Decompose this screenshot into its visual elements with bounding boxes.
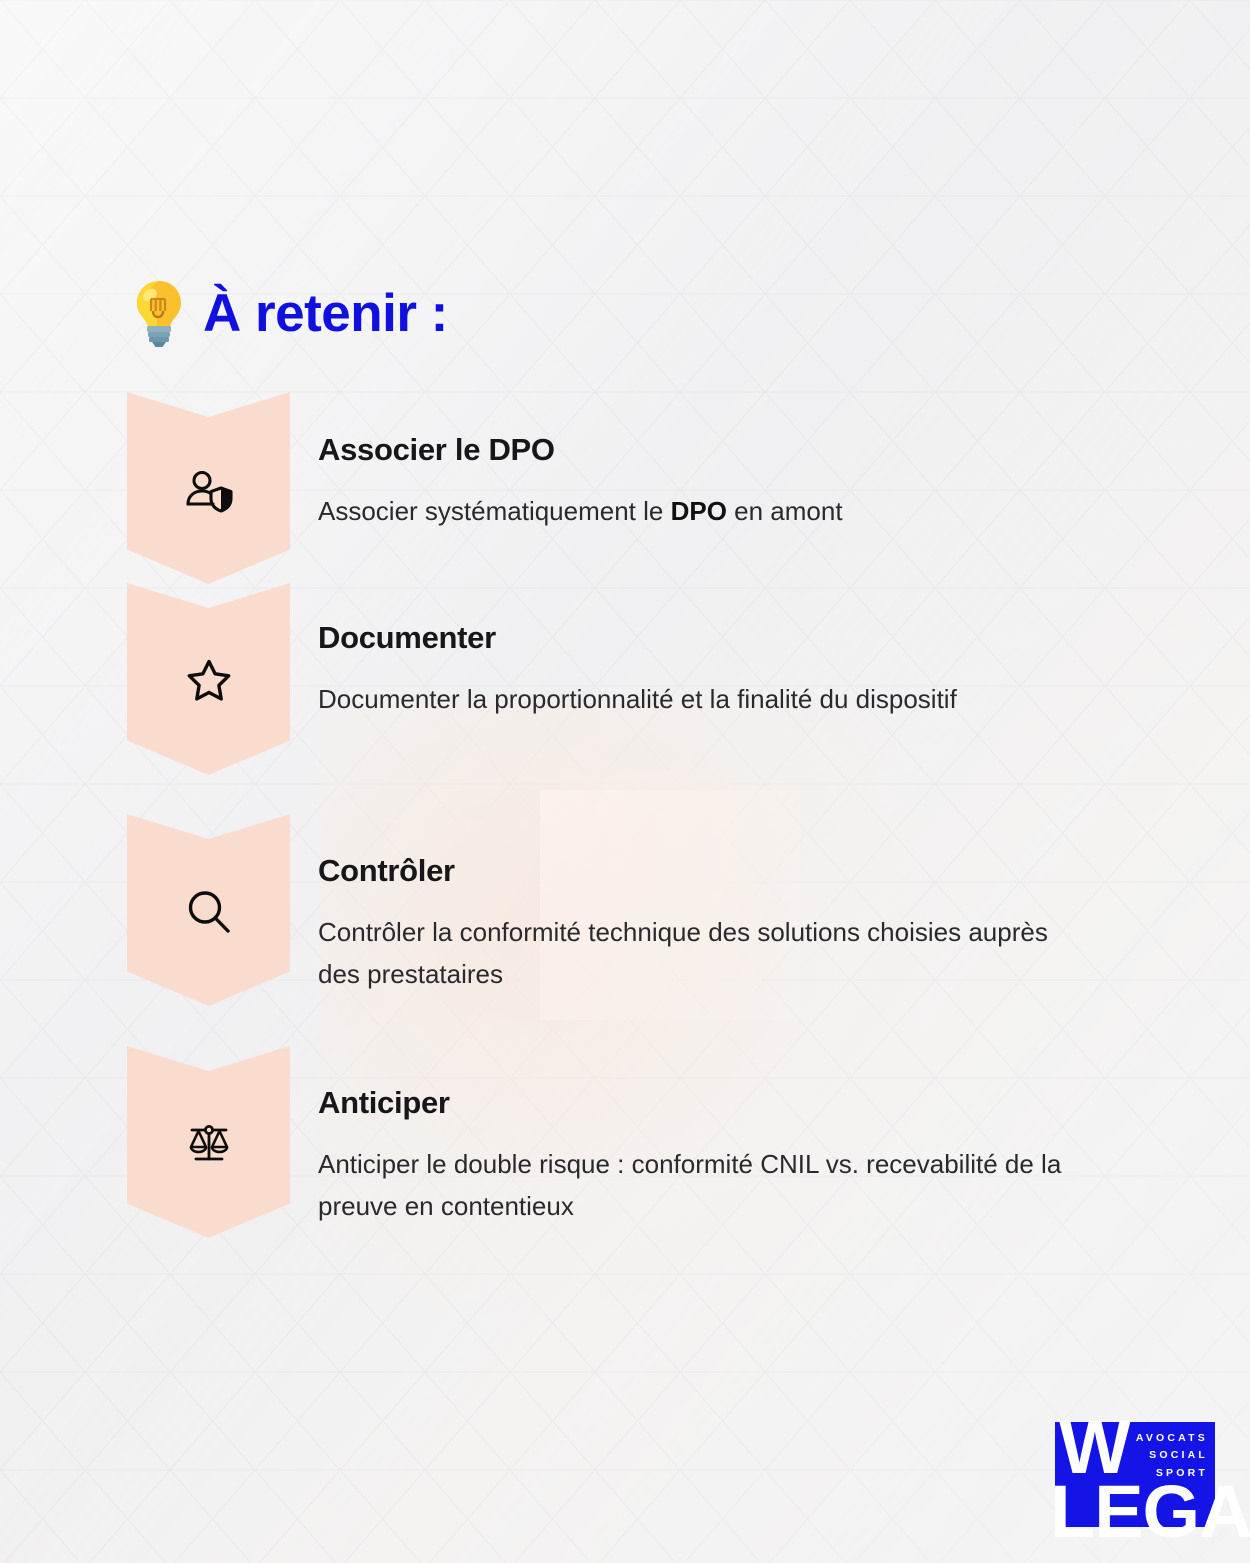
page-title: À retenir : xyxy=(203,287,448,340)
scales-icon xyxy=(183,1118,235,1170)
user-shield-icon xyxy=(183,464,235,516)
desc-part-before: Anticiper le double risque : conformité … xyxy=(318,1149,1061,1221)
list-item-title: Anticiper xyxy=(318,1085,1078,1121)
lightbulb-icon xyxy=(133,278,185,348)
desc-part-before: Documenter la proportionnalité et la fin… xyxy=(318,684,957,714)
star-icon xyxy=(183,655,235,707)
desc-part-before: Contrôler la conformité technique des so… xyxy=(318,917,1048,989)
list-item-text-2: Documenter Documenter la proportionnalit… xyxy=(318,620,1078,720)
desc-part-before: Associer systématiquement le xyxy=(318,496,671,526)
chevron-badge-3 xyxy=(127,814,290,1006)
logo-wordmark: LEGAL xyxy=(1050,1475,1250,1549)
chevron-badge-2 xyxy=(127,583,290,775)
slide-root: À retenir : Associer le DPO Associer sys… xyxy=(0,0,1250,1563)
page-title-row: À retenir : xyxy=(133,278,448,348)
chevron-icon-slot xyxy=(127,392,290,584)
list-item-text-3: Contrôler Contrôler la conformité techni… xyxy=(318,853,1078,995)
brand-logo[interactable]: W AVOCATS SOCIAL SPORT LEGAL xyxy=(1055,1422,1215,1527)
search-icon xyxy=(183,886,235,938)
chevron-badge-1 xyxy=(127,392,290,584)
chevron-icon-slot xyxy=(127,814,290,1006)
chevron-badge-4 xyxy=(127,1046,290,1238)
list-item-title: Contrôler xyxy=(318,853,1078,889)
desc-part-bold: DPO xyxy=(671,496,727,526)
desc-part-after: en amont xyxy=(727,496,843,526)
list-item-text-1: Associer le DPO Associer systématiquemen… xyxy=(318,432,1078,532)
logo-tagline-line-1: AVOCATS xyxy=(1136,1430,1208,1447)
chevron-icon-slot xyxy=(127,1046,290,1238)
list-item-description: Associer systématiquement le DPO en amon… xyxy=(318,490,1078,532)
list-item-description: Documenter la proportionnalité et la fin… xyxy=(318,678,1078,720)
logo-tagline-line-2: SOCIAL xyxy=(1136,1447,1208,1464)
list-item-title: Documenter xyxy=(318,620,1078,656)
list-item-text-4: Anticiper Anticiper le double risque : c… xyxy=(318,1085,1078,1227)
list-item-title: Associer le DPO xyxy=(318,432,1078,468)
chevron-icon-slot xyxy=(127,583,290,775)
list-item-description: Contrôler la conformité technique des so… xyxy=(318,911,1078,995)
list-item-description: Anticiper le double risque : conformité … xyxy=(318,1143,1078,1227)
